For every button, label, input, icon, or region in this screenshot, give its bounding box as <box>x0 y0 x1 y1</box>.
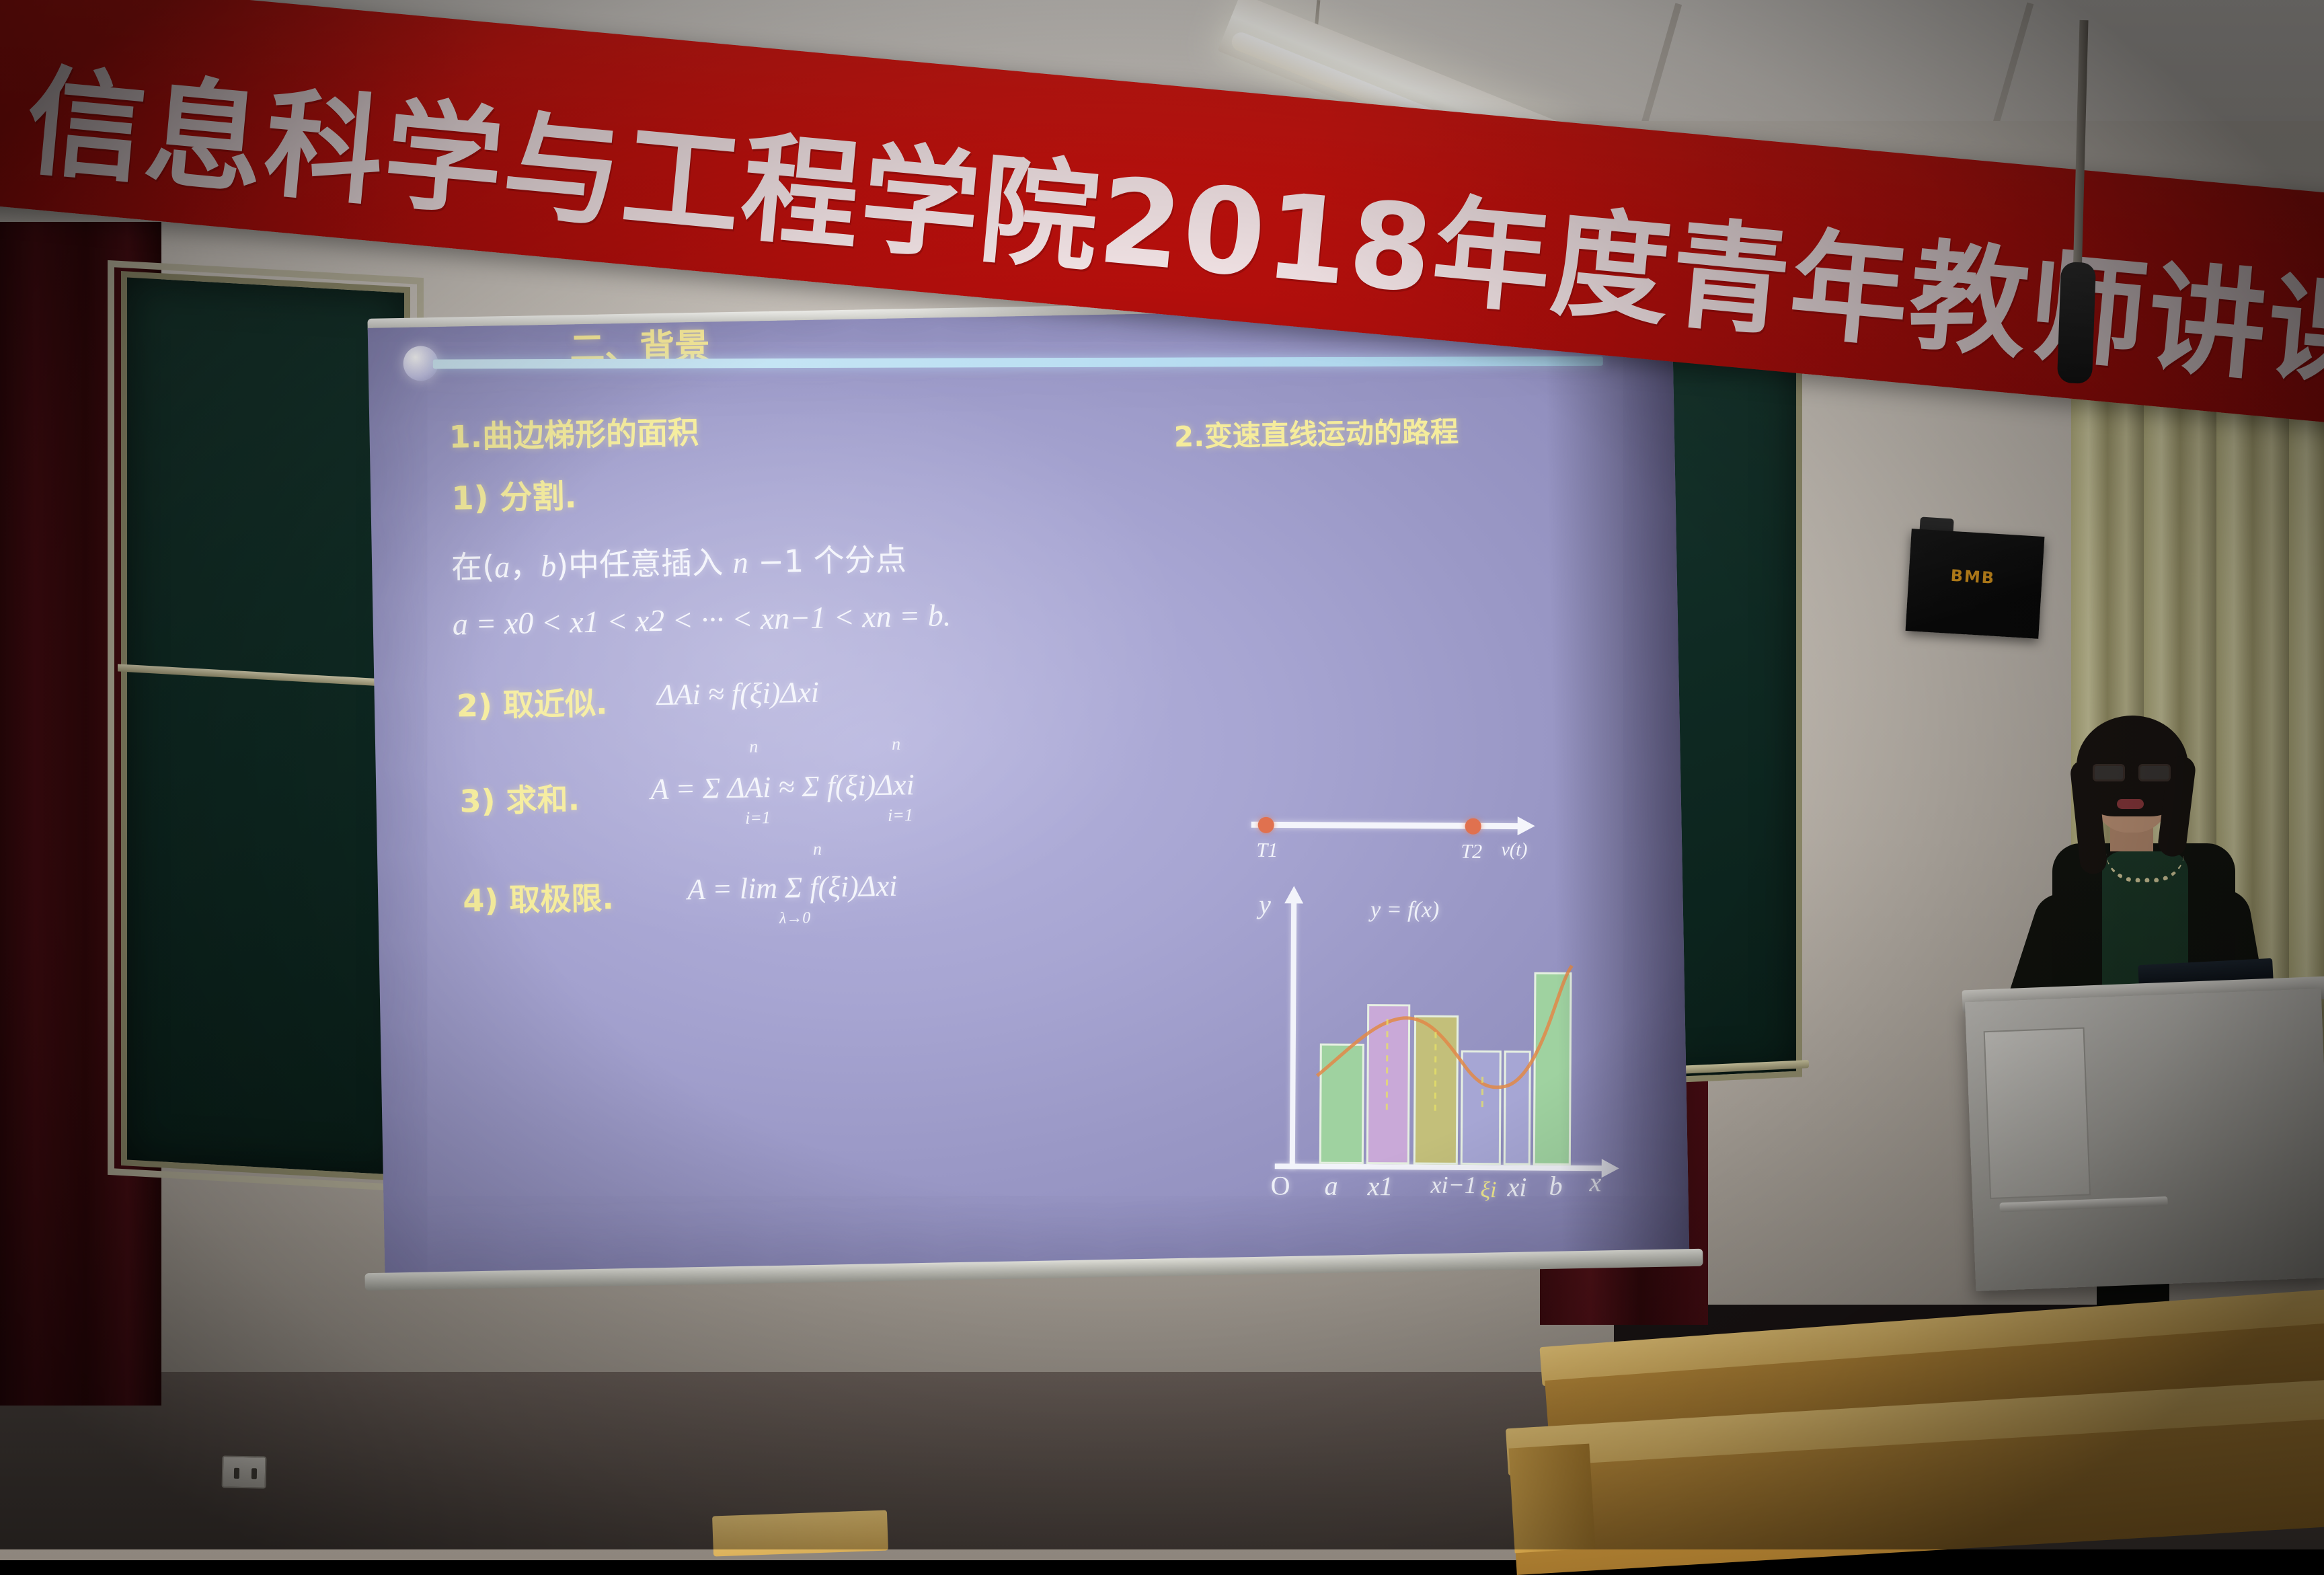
partition-var-a: a <box>494 549 510 584</box>
hanging-mic-head-icon <box>2057 262 2096 384</box>
speaker-brand-label: BMB <box>1950 566 1996 588</box>
chart-curve-label: y = f(x) <box>1370 897 1439 923</box>
slide-heading-1: 1.曲边梯形的面积 <box>449 408 699 457</box>
sum-lower-limit-3b: i=1 <box>888 805 913 826</box>
blackboard-left <box>121 271 410 1182</box>
podium-side-panel <box>1984 1028 2091 1200</box>
timeline-point-end <box>1465 818 1481 835</box>
chart-tick-xi-minus-1: xi−1 <box>1430 1171 1477 1199</box>
slide-step-2-label: 2) 取近似. <box>456 679 608 726</box>
chart-tick-xi-star: ξi <box>1480 1178 1496 1203</box>
slide-partition-sentence: 在(a，b)中任意插入 n −1 个分点 <box>451 535 907 587</box>
partition-text-b: )中任意插入 <box>556 544 734 584</box>
socket-hole-right <box>251 1468 257 1479</box>
glasses-lens-right <box>2138 764 2171 781</box>
partition-var-n: n <box>732 545 748 580</box>
chart-tick-xi: xi <box>1507 1171 1526 1202</box>
classroom-scene: x[i−1, xi] ξi ) Δxi Δxi) 二、背景 1.曲边梯形的面积 … <box>0 0 2324 1549</box>
partition-text-a: 在( <box>451 549 495 586</box>
desk-front-leg <box>1508 1444 1595 1553</box>
sum-upper-limit-3a: n <box>749 736 759 757</box>
slide-step-1-label: 1) 分割. <box>451 469 578 518</box>
presenter-mouth <box>2117 799 2144 809</box>
chart-x-axis-label: x <box>1589 1166 1601 1198</box>
podium-drawer-slot <box>1999 1196 2167 1213</box>
chart-origin-label: O <box>1270 1169 1290 1201</box>
chart-y-axis-label: y <box>1259 888 1271 920</box>
podium <box>1965 989 2324 1291</box>
timeline-label-t2: T2 <box>1461 841 1482 863</box>
slide-surface: 二、背景 1.曲边梯形的面积 1) 分割. 在(a，b)中任意插入 n −1 个… <box>368 304 1690 1276</box>
slide-step-3-formula: A = Σ ΔAi ≈ Σ f(ξi)Δxi <box>650 767 915 806</box>
chart-function-curve <box>1254 892 1633 1217</box>
partition-var-b: b <box>541 549 557 583</box>
slide-step-4-formula: A = lim Σ f(ξi)Δxi <box>687 869 898 907</box>
slide-step-3-label: 3) 求和. <box>459 775 580 821</box>
timeline-arrow-icon <box>1518 816 1535 835</box>
sum-upper-limit-3b: n <box>892 734 901 754</box>
partition-text-c: −1 个分点 <box>748 541 906 580</box>
partition-comma: ， <box>510 547 541 584</box>
presenter-glasses-icon <box>2093 764 2171 781</box>
riemann-sum-chart: y = f(x) y x O a x1 xi−1 ξi xi b <box>1254 892 1633 1217</box>
desk-left-top <box>712 1510 888 1556</box>
wall-power-socket <box>222 1455 267 1488</box>
sum-upper-limit-4: n <box>813 839 822 859</box>
slide-partition-formula: a = x0 < x1 < x2 < ··· < xn−1 < xn = b. <box>452 597 951 642</box>
timeline-label-t1: T1 <box>1256 839 1278 862</box>
sum-lower-limit-3a: i=1 <box>745 808 771 829</box>
wall-speaker: BMB <box>1906 529 2045 639</box>
timeline-point-start <box>1258 817 1274 833</box>
chart-tick-a: a <box>1324 1170 1338 1202</box>
slide-step-4-label: 4) 取极限. <box>463 874 615 921</box>
lim-subscript: λ→0 <box>779 909 811 928</box>
chart-tick-b: b <box>1549 1170 1562 1202</box>
slide-step-2-formula: ΔAi ≈ f(ξi)Δxi <box>656 675 819 712</box>
socket-hole-left <box>234 1468 239 1479</box>
timeline-label-velocity: v(t) <box>1501 839 1527 861</box>
velocity-timeline-diagram: T1 T2 v(t) <box>1251 810 1540 852</box>
chart-tick-x1: x1 <box>1367 1170 1393 1202</box>
projection-screen: 二、背景 1.曲边梯形的面积 1) 分割. 在(a，b)中任意插入 n −1 个… <box>368 304 1691 1316</box>
slide-heading-2: 2.变速直线运动的路程 <box>1173 409 1459 455</box>
glasses-lens-left <box>2093 764 2125 781</box>
